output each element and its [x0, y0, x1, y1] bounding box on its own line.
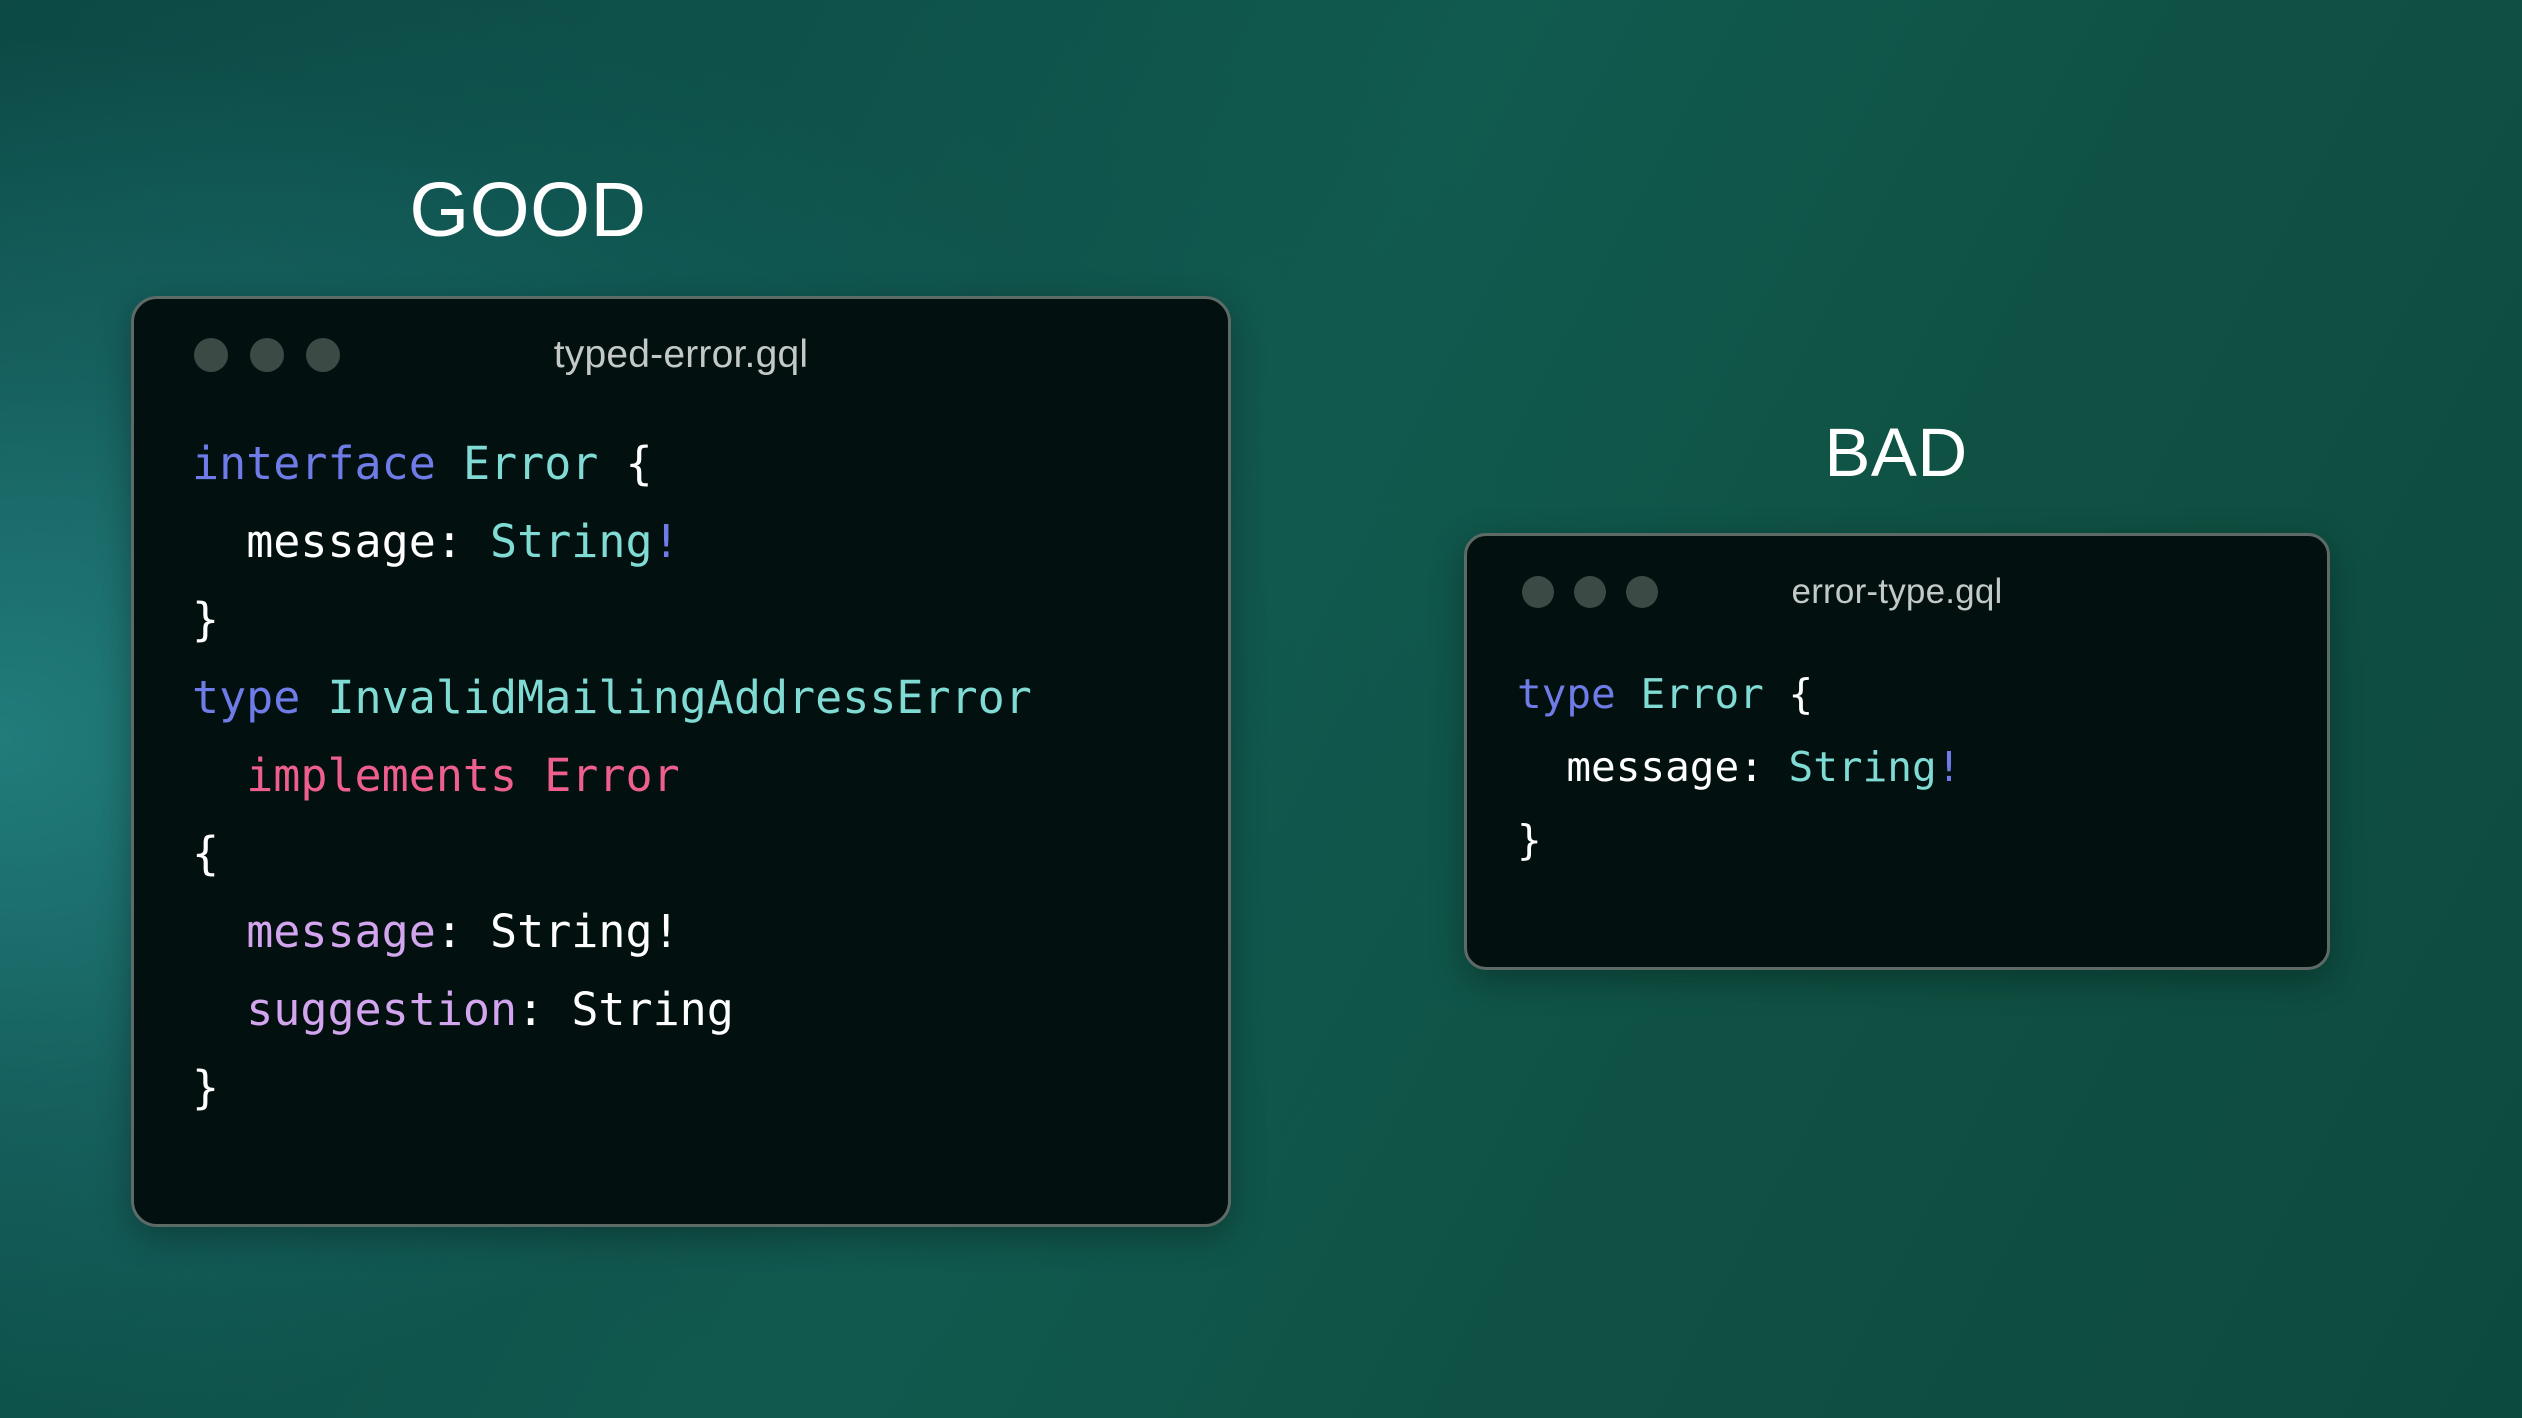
minimize-dot-icon[interactable] — [250, 338, 284, 372]
code-token: } — [192, 593, 219, 646]
code-token: : — [517, 983, 571, 1036]
code-token — [300, 671, 327, 724]
code-line: message: String! — [1517, 731, 2327, 804]
code-line: message: String! — [192, 893, 1228, 971]
code-token: } — [192, 1061, 219, 1114]
traffic-lights-good — [194, 338, 340, 372]
code-token — [192, 983, 246, 1036]
code-token: suggestion — [246, 983, 517, 1036]
code-line: message: String! — [192, 503, 1228, 581]
code-line: } — [1517, 804, 2327, 877]
code-token: type — [1517, 670, 1616, 718]
code-token: InvalidMailingAddressError — [327, 671, 1031, 724]
code-token: : — [1739, 743, 1788, 791]
code-line: { — [192, 815, 1228, 893]
code-token: type — [192, 671, 300, 724]
code-token — [598, 437, 625, 490]
code-token: String — [490, 515, 653, 568]
code-token — [192, 749, 246, 802]
code-line: implements Error — [192, 737, 1228, 815]
close-dot-icon[interactable] — [1522, 576, 1554, 608]
code-token: message — [246, 905, 436, 958]
code-token: : — [436, 515, 490, 568]
window-titlebar-bad: error-type.gql — [1467, 536, 2327, 648]
maximize-dot-icon[interactable] — [1626, 576, 1658, 608]
code-token: { — [192, 827, 219, 880]
maximize-dot-icon[interactable] — [306, 338, 340, 372]
code-token: interface — [192, 437, 436, 490]
code-token: message — [1566, 743, 1739, 791]
code-token: Error — [463, 437, 598, 490]
code-line: suggestion: String — [192, 971, 1228, 1049]
code-line: } — [192, 581, 1228, 659]
code-token — [1517, 743, 1566, 791]
minimize-dot-icon[interactable] — [1574, 576, 1606, 608]
code-token: ! — [1937, 743, 1962, 791]
close-dot-icon[interactable] — [194, 338, 228, 372]
code-content-bad: type Error { message: String!} — [1467, 648, 2327, 877]
code-window-good: typed-error.gql interface Error { messag… — [131, 296, 1231, 1227]
code-token — [1616, 670, 1641, 718]
code-line: } — [192, 1049, 1228, 1127]
code-token: Error — [1640, 670, 1763, 718]
code-token: { — [626, 437, 653, 490]
code-token: : — [436, 905, 490, 958]
code-window-bad: error-type.gql type Error { message: Str… — [1464, 533, 2330, 970]
code-token: message — [246, 515, 436, 568]
code-line: type Error { — [1517, 658, 2327, 731]
code-line: type InvalidMailingAddressError — [192, 659, 1228, 737]
code-token: { — [1789, 670, 1814, 718]
code-token — [192, 515, 246, 568]
code-token: String! — [490, 905, 680, 958]
code-token: ! — [653, 515, 680, 568]
code-token: String — [1789, 743, 1937, 791]
code-line: interface Error { — [192, 425, 1228, 503]
code-token: String — [571, 983, 734, 1036]
code-token: implements Error — [246, 749, 679, 802]
code-token — [1764, 670, 1789, 718]
traffic-lights-bad — [1522, 576, 1658, 608]
bad-section-label: BAD — [1824, 418, 1967, 487]
comparison-figure: GOOD typed-error.gql interface Error { m… — [0, 0, 2522, 1418]
code-token: } — [1517, 816, 1542, 864]
code-content-good: interface Error { message: String!}type … — [134, 411, 1228, 1127]
good-section-label: GOOD — [409, 172, 646, 249]
code-token — [192, 905, 246, 958]
window-titlebar-good: typed-error.gql — [134, 299, 1228, 411]
code-token — [436, 437, 463, 490]
